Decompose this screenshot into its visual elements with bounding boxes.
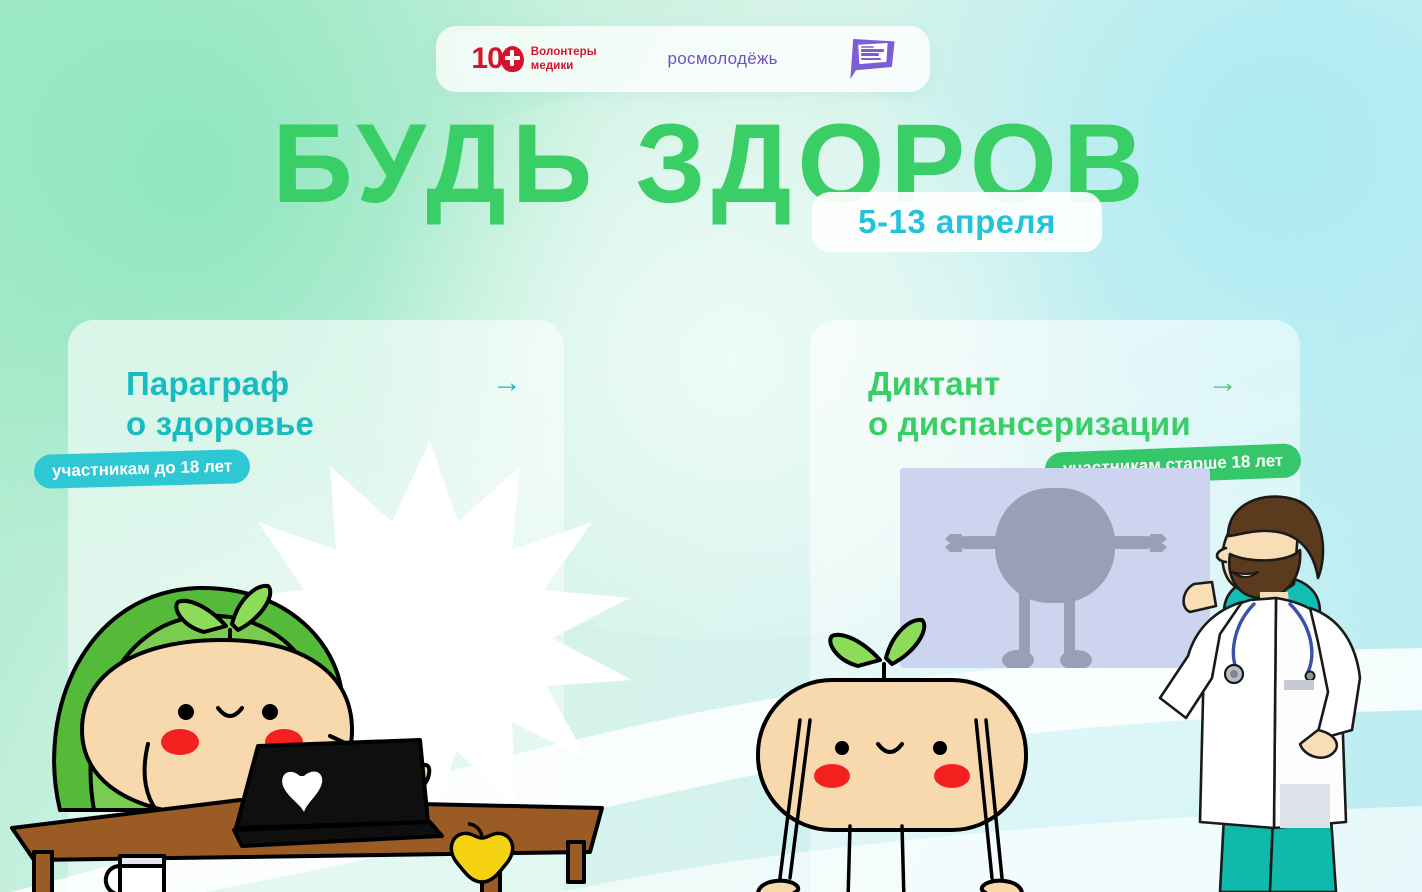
anniversary-number: 10	[471, 44, 502, 74]
card-left-title-line1: Параграф	[126, 364, 520, 404]
partner-national-projects[interactable]	[849, 37, 895, 81]
partner-logo-bar: 10 Волонтеры медики росмолодёжь	[436, 26, 930, 92]
card-left-header: Параграф о здоровье	[126, 364, 520, 445]
event-date-badge: 5-13 апреля	[812, 192, 1102, 252]
card-right-header: Диктант о диспансеризации	[868, 364, 1256, 445]
card-right-title-line1: Диктант	[868, 364, 1256, 404]
event-date-text: 5-13 апреля	[858, 203, 1056, 241]
national-projects-text-lines-icon	[861, 46, 884, 62]
volontery-mediki-wordmark: Волонтеры медики	[531, 45, 597, 73]
card-right-title-line2: о диспансеризации	[868, 404, 1256, 444]
standing-apple-character	[740, 590, 1080, 892]
page-title: БУДЬ ЗДОРОВ	[0, 108, 1422, 220]
badge-age-under-18: участникам до 18 лет	[34, 449, 251, 489]
partner-volontery-mediki[interactable]: 10 Волонтеры медики	[471, 44, 596, 74]
card-right-title: Диктант о диспансеризации	[868, 364, 1256, 445]
page-background: 10 Волонтеры медики росмолодёжь БУДЬ ЗДО…	[0, 0, 1422, 892]
volontery-mediki-mark: 10	[471, 44, 523, 74]
partner-name-line2: медики	[531, 59, 597, 73]
card-left-arrow-icon[interactable]: →	[492, 368, 522, 398]
apple-character-at-desk	[0, 560, 630, 892]
card-left-title-line2: о здоровье	[126, 404, 520, 444]
doctor-character	[1150, 492, 1422, 892]
partner-name-line1: Волонтеры	[531, 45, 597, 59]
partner-rosmolodezh[interactable]: росмолодёжь	[668, 49, 778, 69]
medical-cross-icon	[501, 46, 524, 72]
card-left-title: Параграф о здоровье	[126, 364, 520, 445]
card-right-arrow-icon[interactable]: →	[1208, 368, 1238, 398]
